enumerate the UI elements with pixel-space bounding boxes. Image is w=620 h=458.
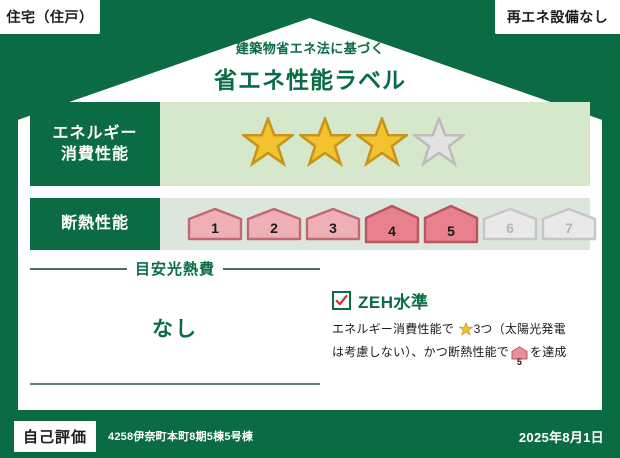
zeh-block: ZEH水準 エネルギー消費性能で 3つ（太陽光発電 は考慮しない）、かつ断熱性能… [332, 288, 587, 367]
self-evaluation-badge: 自己評価 [14, 421, 96, 452]
insulation-badge-inline-num: 5 [511, 358, 528, 367]
insulation-label-text: 断熱性能 [61, 213, 129, 234]
star-icon-filled [299, 117, 351, 172]
building-type-tag: 住宅（住戸） [0, 0, 100, 34]
cost-rule-left [30, 268, 127, 270]
zeh-desc-part1: エネルギー消費性能で [332, 322, 454, 336]
insulation-performance-label: 断熱性能 [30, 198, 160, 250]
utility-cost-title: 目安光熱費 [135, 258, 215, 279]
insulation-level-6: 6 [482, 207, 538, 241]
insulation-level-5: 5 [423, 204, 479, 244]
insulation-performance-row: 断熱性能 1234567 [30, 198, 590, 250]
check-icon [335, 294, 348, 307]
insulation-level-number: 2 [246, 220, 302, 236]
energy-label-line2: 消費性能 [61, 144, 129, 165]
utility-cost-block: 目安光熱費 なし [30, 258, 320, 343]
insulation-level-3: 3 [305, 207, 361, 241]
insulation-level-1: 1 [187, 207, 243, 241]
zeh-title: ZEH水準 [358, 288, 429, 313]
star-icon-filled [356, 117, 408, 172]
insulation-level-number: 6 [482, 220, 538, 236]
insulation-level-7: 7 [541, 207, 597, 241]
zeh-checkbox[interactable] [332, 291, 351, 310]
insulation-level-2: 2 [246, 207, 302, 241]
footer-bar: 自己評価 4258伊奈町本町8期5棟5号棟 2025年8月1日 [0, 414, 620, 458]
zeh-description: エネルギー消費性能で 3つ（太陽光発電 は考慮しない）、かつ断熱性能で 5を達成 [332, 320, 587, 367]
insulation-level-scale: 1234567 [160, 198, 590, 250]
issue-date: 2025年8月1日 [519, 427, 604, 446]
zeh-desc-starcount: 3つ（太陽光発電 [474, 322, 566, 336]
insulation-level-4: 4 [364, 204, 420, 244]
energy-label-line1: エネルギー [52, 123, 137, 144]
star-rating [160, 102, 590, 186]
utility-cost-value: なし [30, 313, 320, 343]
insulation-level-number: 4 [364, 223, 420, 239]
property-address: 4258伊奈町本町8期5棟5号棟 [108, 428, 253, 444]
insulation-level-number: 7 [541, 220, 597, 236]
utility-cost-heading: 目安光熱費 [30, 258, 320, 279]
cost-divider [30, 383, 320, 385]
star-icon-filled [242, 117, 294, 172]
energy-performance-label: エネルギー 消費性能 [30, 102, 160, 186]
insulation-level-number: 5 [423, 223, 479, 239]
energy-performance-row: エネルギー 消費性能 [30, 102, 590, 186]
cost-rule-right [223, 268, 320, 270]
zeh-desc-part3: を達成 [530, 345, 567, 359]
energy-performance-label: 住宅（住戸） 再エネ設備なし 建築物省エネ法に基づく 省エネ性能ラベル エネルギ… [0, 0, 620, 458]
zeh-desc-part2: は考慮しない）、かつ断熱性能で [332, 345, 509, 359]
star-icon-empty [413, 117, 465, 172]
zeh-heading: ZEH水準 [332, 288, 587, 313]
insulation-level-number: 1 [187, 220, 243, 236]
renewable-energy-tag: 再エネ設備なし [495, 0, 620, 34]
insulation-badge-inline: 5 [511, 346, 528, 367]
star-icon-inline [455, 325, 473, 339]
insulation-level-number: 3 [305, 220, 361, 236]
